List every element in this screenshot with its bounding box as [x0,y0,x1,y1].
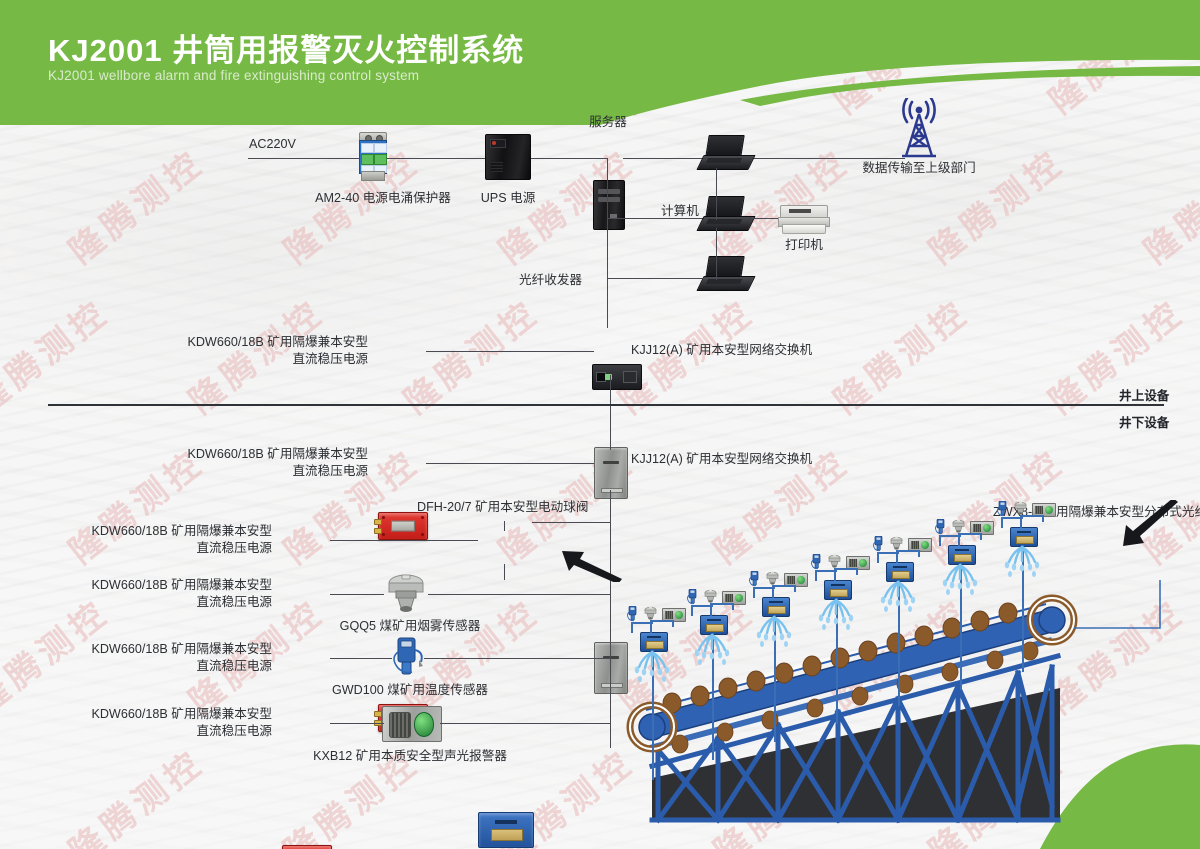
station-valve-plate [892,571,911,580]
underground-switch-label: KJJ12(A) 矿用本安型网络交换机 [631,451,812,468]
fiber-converter-label: 光纤收发器 [460,272,582,289]
laptop-link-2 [716,228,717,280]
smoke-sensor-label: GQQ5 煤矿用烟雾传感器 [330,618,490,635]
underground-power-label-4a: KDW660/18B 矿用隔爆兼本安型 [54,641,272,658]
station-alarm-run [1020,515,1043,517]
temp-sensor-device [388,636,426,680]
station-temp-sensor-icon [872,536,883,551]
divider-label-above: 井上设备 [1119,385,1169,404]
smoke-sensor-device [382,572,430,616]
underground-power-supply-device-2 [282,845,332,849]
valve-stem-top [504,521,505,531]
fiber-port-1 [596,372,606,382]
station-smoke-drop [710,603,712,616]
surface-power-label-2: 直流稳压电源 [150,351,368,368]
underground-power-label-2a: KDW660/18B 矿用隔爆兼本安型 [54,523,272,540]
laptop-screen [705,256,744,278]
station-alarm-run [710,603,733,605]
page-title: KJ2001 井筒用报警灭火控制系统 [48,25,524,70]
surface-power-label-1: KDW660/18B 矿用隔爆兼本安型 [150,334,368,351]
station-spray-icon [691,633,735,673]
station-alarm-lamp [1045,506,1052,514]
underground-power-label-2b: 直流稳压电源 [54,540,272,557]
surface-power-supply-device [378,512,428,540]
station-smoke-drop [650,620,652,633]
computer-label: 计算机 [661,203,699,220]
underground-power-label-4b: 直流稳压电源 [54,658,272,675]
station-smoke-sensor-icon [703,589,717,603]
station-smoke-sensor-icon [1013,501,1027,515]
station-alarm-run [896,550,919,552]
station-alarm-horn [1035,506,1043,514]
station-valve-slot [647,636,662,639]
station-temp-drop [691,605,693,616]
surge-protector-label: AM2-40 电源电涌保护器 [303,190,463,207]
station-smoke-drop [1020,515,1022,528]
station-alarm-run [958,533,981,535]
ac-bus-line [248,158,608,159]
station-alarm-lamp [983,524,990,532]
alarm-lamp [414,712,435,736]
smoke-sensor-line-left [330,594,384,595]
ups-label: UPS 电源 [462,190,554,207]
station-alarm-horn [973,524,981,532]
station-valve-box [700,615,728,635]
station-valve-plate [1016,536,1035,545]
station-spray-icon [877,580,921,620]
station-valve-slot [769,601,784,604]
station-temp-drop [1001,517,1003,528]
ups-device [485,134,531,180]
ups-led [492,141,496,145]
station-alarm-horn [849,559,857,567]
station-temp-drop [631,622,633,633]
station-valve-plate [768,606,787,615]
printer-label: 打印机 [766,237,842,254]
station-alarm-drop [672,620,674,627]
printer-tray [782,224,826,234]
laptop-2 [700,196,752,230]
station-valve-box [762,597,790,617]
underground-power-label-5a: KDW660/18B 矿用隔爆兼本安型 [54,706,272,723]
temp-sensor-line-right [424,658,610,659]
station-valve-box [886,562,914,582]
surface-underground-divider [48,404,1164,406]
station-spray-icon [939,563,983,603]
station-valve-plate [954,554,973,563]
server-device [593,180,625,230]
laptop-base [696,155,755,170]
station-valve-box [640,632,668,652]
station-valve-slot [955,549,970,552]
station-alarm-horn [911,541,919,549]
uplink-label: 数据传输至上级部门 [845,160,993,177]
station-smoke-sensor-icon [951,519,965,533]
station-alarm-lamp [859,559,866,567]
station-smoke-drop [772,585,774,598]
alarm-line-left [330,723,384,724]
station-temp-sensor-icon [934,519,945,534]
laptop-link-1 [716,168,717,220]
valve-stem-bottom [504,564,505,580]
station-valve-slot [831,584,846,587]
laptop-3 [700,256,752,290]
laptop-screen [705,196,744,218]
station-spray-icon [753,615,797,655]
temp-sensor-line-left [330,658,392,659]
station-smoke-sensor-icon [643,606,657,620]
station-valve-box [1010,527,1038,547]
ups-vent [491,162,502,172]
station-alarm-lamp [797,576,804,584]
surface-power-line [426,351,594,352]
underground-power-label-3a: KDW660/18B 矿用隔爆兼本安型 [54,577,272,594]
station-temp-sensor-icon [686,589,697,604]
station-smoke-drop [834,568,836,581]
station-alarm-run [772,585,795,587]
station-spray-icon [815,598,859,638]
valve-to-trunk-line [532,522,610,523]
station-alarm-drop [980,533,982,540]
station-valve-plate [830,589,849,598]
underground-power-line-1 [426,463,594,464]
station-spray-icon [631,650,675,690]
station-valve-box [824,580,852,600]
underground-power-label-1a: KDW660/18B 矿用隔爆兼本安型 [150,446,368,463]
station-alarm-drop [794,585,796,592]
divider-label-below: 井下设备 [1119,412,1169,431]
smoke-sensor-line-right [428,594,610,595]
fiber-port-3 [623,371,637,383]
station-smoke-sensor-icon [827,554,841,568]
station-temp-drop [877,552,879,563]
alarm-line-right [440,723,610,724]
station-temp-drop [753,587,755,598]
station-alarm-drop [856,568,858,575]
station-alarm-lamp [675,611,682,619]
station-smoke-drop [896,550,898,563]
underground-power-label-5b: 直流稳压电源 [54,723,272,740]
station-alarm-horn [725,594,733,602]
station-valve-plate [646,641,665,650]
underground-power-label-1b: 直流稳压电源 [150,463,368,480]
laptop-base [696,216,755,231]
valve-label: DFH-20/7 矿用本安型电动球阀 [417,499,588,516]
station-alarm-lamp [735,594,742,602]
station-temp-sensor-icon [748,571,759,586]
station-alarm-lamp [921,541,928,549]
switch-trunk-line [610,375,611,450]
station-temp-sensor-icon [996,501,1007,516]
server-bay-1 [598,189,620,194]
alarm-horn [389,712,411,738]
station-temp-sensor-icon [810,554,821,569]
valve-plate [491,829,523,841]
ac-input-label: AC220V [249,136,296,153]
station-alarm-drop [918,550,920,557]
antenna-tower-icon [888,98,950,160]
server-trunk-line [607,158,608,328]
station-temp-sensor-icon [626,606,637,621]
printer-line [752,218,780,219]
station-temp-drop [815,570,817,581]
temp-sensor-label: GWD100 煤矿用温度传感器 [324,682,496,699]
laptop-screen [705,135,744,157]
station-smoke-sensor-icon [765,571,779,585]
station-valve-slot [707,619,722,622]
page-header: KJ2001 井筒用报警灭火控制系统 KJ2001 wellbore alarm… [0,0,1200,125]
station-alarm-horn [665,611,673,619]
station-alarm-run [650,620,673,622]
fiber-to-laptop-line [640,278,716,279]
station-spray-icon [1001,545,1045,585]
valve-device [478,812,534,848]
underground-power-label-3b: 直流稳压电源 [54,594,272,611]
alarm-label: KXB12 矿用本质安全型声光报警器 [310,748,510,765]
underground-power-line-2 [330,540,478,541]
diagram-canvas: 隆腾测控隆腾测控隆腾测控隆腾测控隆腾测控隆腾测控隆腾测控隆腾测控隆腾测控隆腾测控… [0,0,1200,849]
station-smoke-drop [958,533,960,546]
station-temp-drop [939,535,941,546]
station-alarm-run [834,568,857,570]
surge-foot [361,171,385,181]
printer-device [778,205,830,233]
laptop-1 [700,135,752,169]
station-smoke-sensor-icon [889,536,903,550]
server-bay-2 [598,197,620,202]
server-label: 服务器 [570,114,646,131]
surface-switch-label: KJJ12(A) 矿用本安型网络交换机 [631,342,812,359]
station-alarm-drop [732,603,734,610]
station-valve-slot [1017,531,1032,534]
surge-body [359,140,387,174]
page-subtitle: KJ2001 wellbore alarm and fire extinguis… [48,68,419,83]
valve-slot [495,820,517,823]
station-valve-slot [893,566,908,569]
station-valve-box [948,545,976,565]
station-alarm-horn [787,576,795,584]
station-alarm-drop [1042,515,1044,522]
fiber-converter-device [592,364,642,390]
station-valve-plate [706,624,725,633]
alarm-device [382,706,442,742]
